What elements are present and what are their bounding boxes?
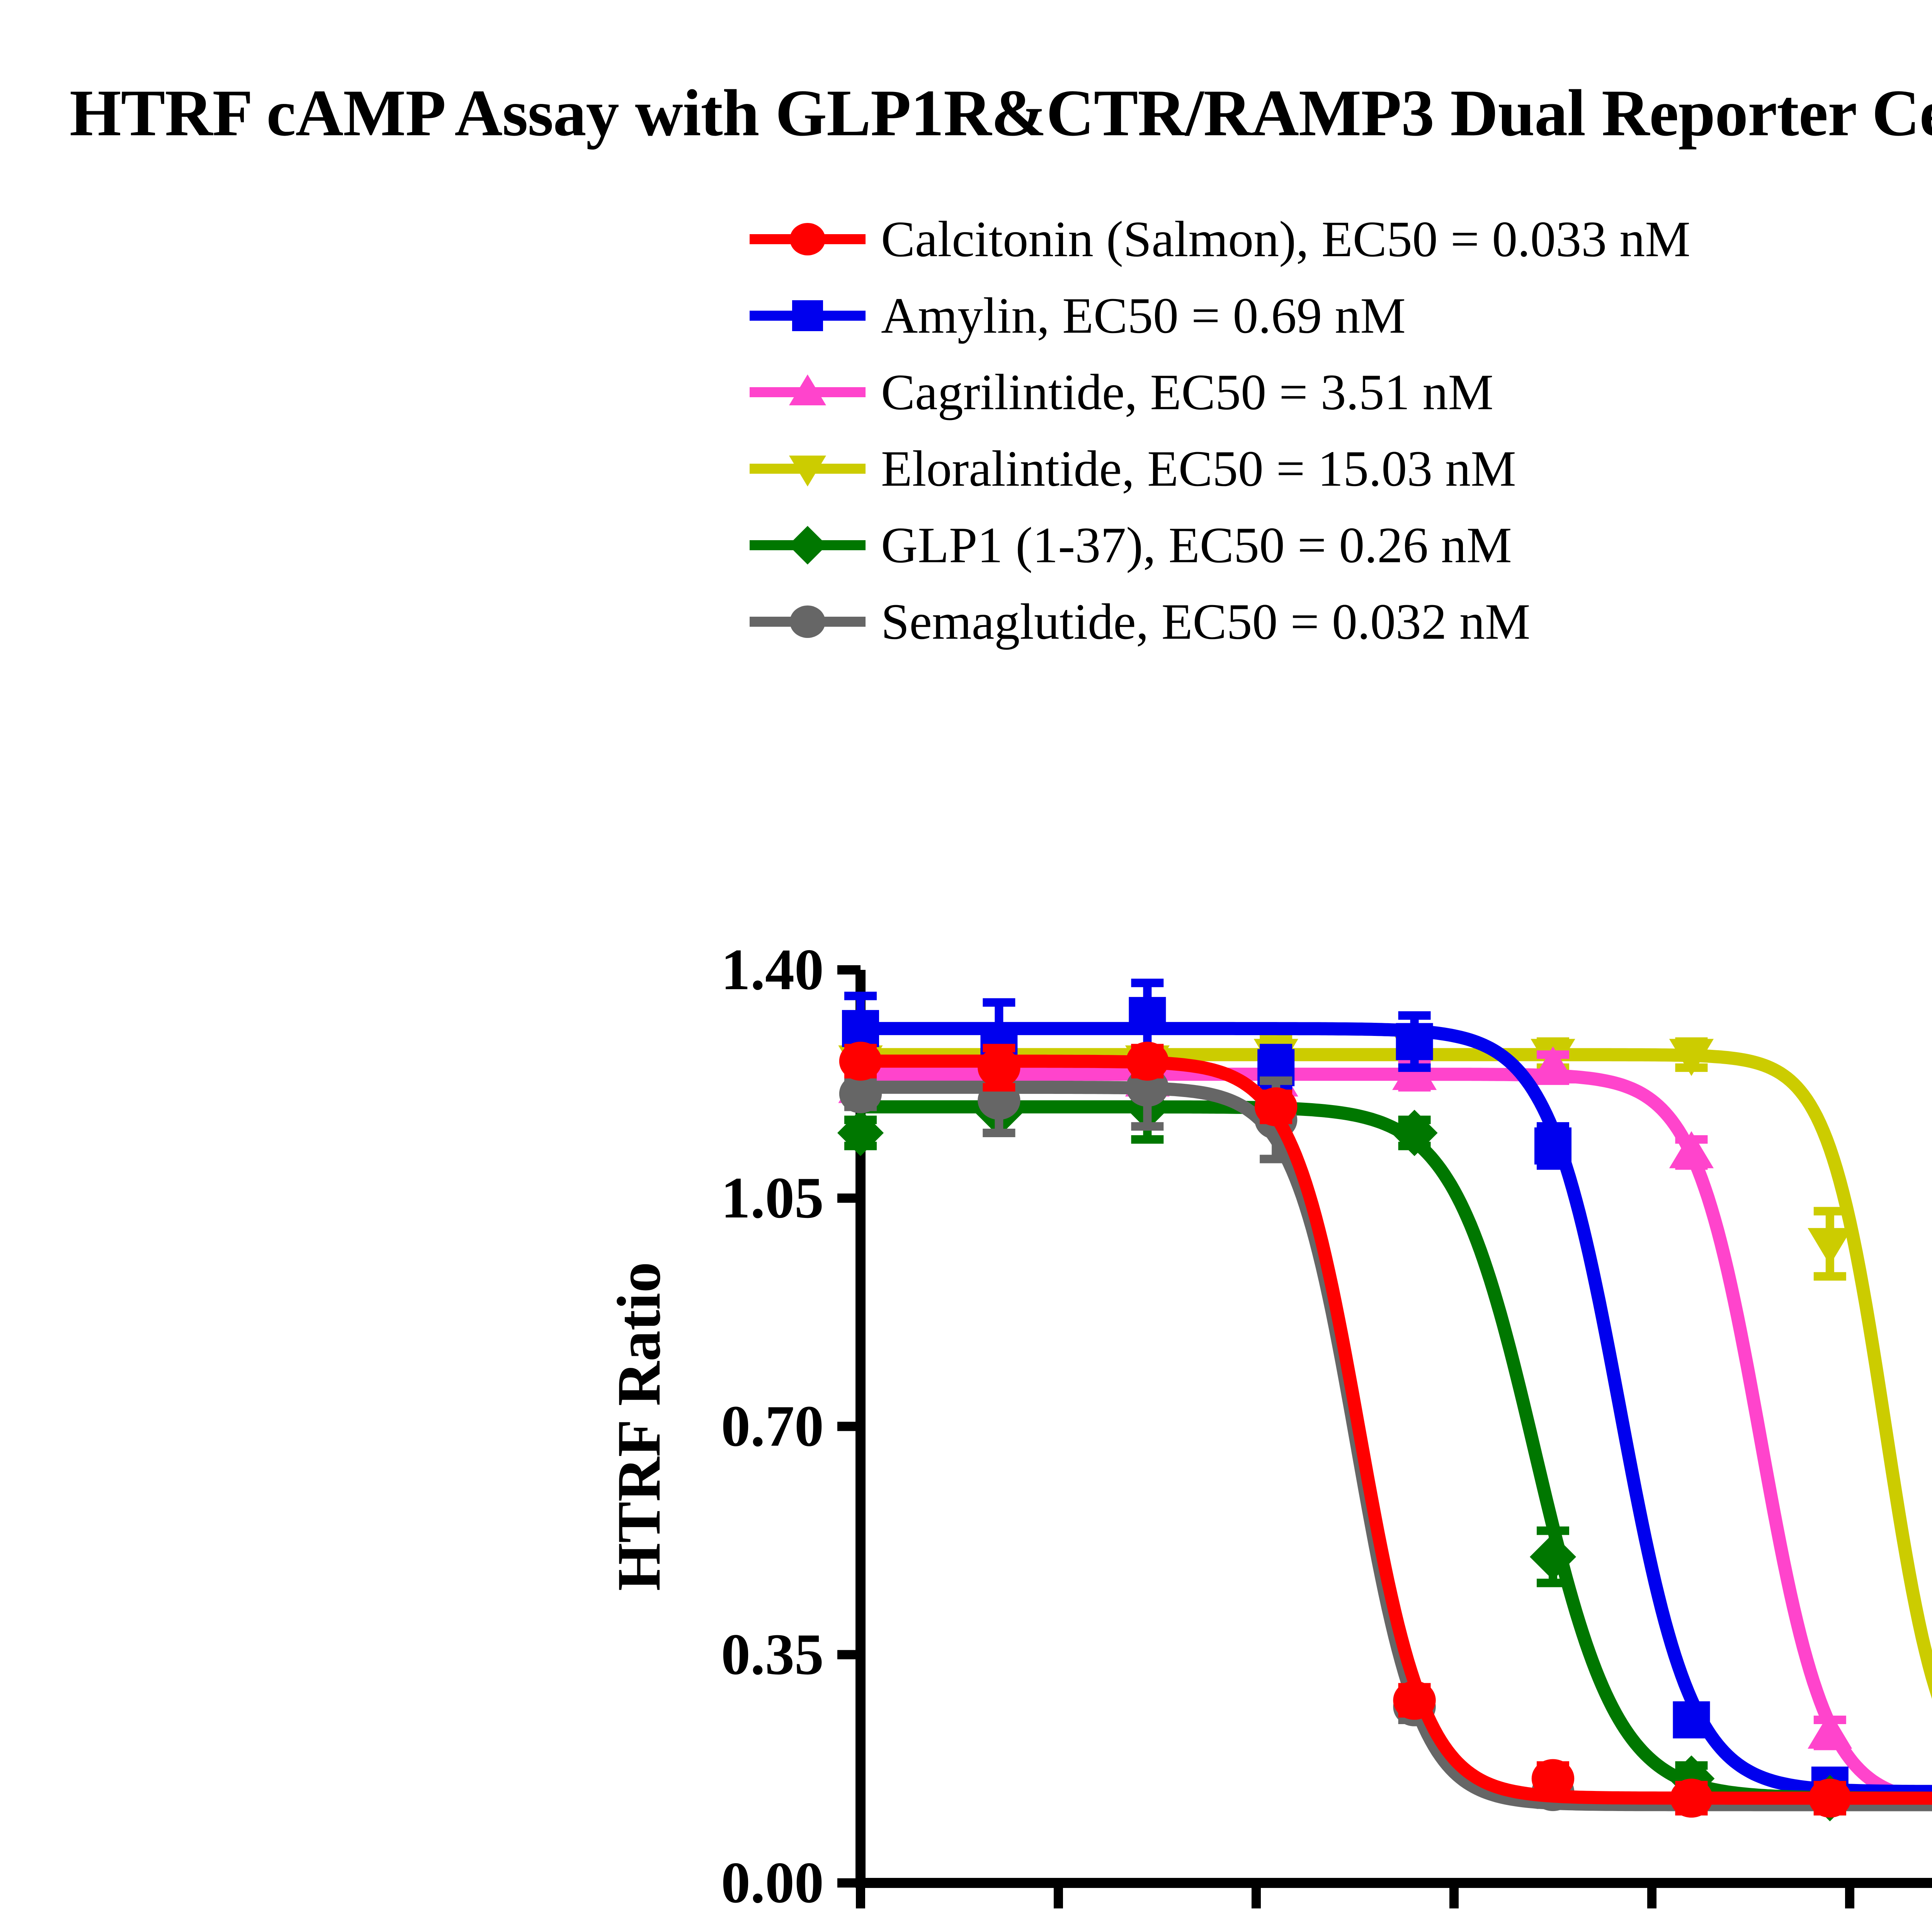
dose-response-plot: 0.000.350.701.051.40-4-3-2-10123Log[Agon…	[0, 889, 1932, 1932]
data-point	[1255, 1087, 1297, 1126]
legend-item[interactable]: Calcitonin (Salmon), EC50 = 0.033 nM	[750, 201, 1690, 277]
y-tick-label: 1.40	[721, 937, 824, 1002]
y-tick-label: 0.35	[721, 1622, 824, 1687]
legend-marker-circle-icon	[750, 602, 866, 641]
data-point	[1809, 1779, 1851, 1818]
legend-item[interactable]: Cagrilintide, EC50 = 3.51 nM	[750, 354, 1690, 430]
x-tick-label: 0	[1637, 1923, 1667, 1932]
legend-item-label: Amylin, EC50 = 0.69 nM	[881, 290, 1406, 341]
data-point	[1808, 1228, 1852, 1265]
legend-item[interactable]: Amylin, EC50 = 0.69 nM	[750, 277, 1690, 354]
figure-root: HTRF cAMP Assay with GLP1R&CTR/RAMP3 Dua…	[0, 0, 1932, 1932]
legend-marker-triangle-down-icon	[750, 449, 866, 488]
y-tick-label: 1.05	[721, 1165, 824, 1230]
legend-item[interactable]: GLP1 (1-37), EC50 = 0.26 nM	[750, 507, 1690, 583]
y-axis-ticks: 0.000.350.701.051.40	[721, 937, 861, 1915]
series-calcitonin-salmon	[839, 1042, 1932, 1824]
legend-marker-circle-icon	[750, 220, 866, 259]
y-tick-label: 0.00	[721, 1850, 824, 1915]
y-axis-title: HTRF Ratio	[604, 1262, 673, 1591]
data-point	[839, 1042, 882, 1081]
legend-item-label: Semaglutide, EC50 = 0.032 nM	[881, 596, 1530, 647]
page-title: HTRF cAMP Assay with GLP1R&CTR/RAMP3 Dua…	[70, 58, 1932, 155]
data-point	[1534, 1128, 1571, 1165]
data-point	[978, 1048, 1020, 1087]
legend-item[interactable]: Eloralintide, EC50 = 15.03 nM	[750, 430, 1690, 507]
legend-symbol	[792, 300, 823, 331]
series-eloralintide	[838, 1032, 1932, 1813]
fit-curve	[861, 1054, 1932, 1798]
legend-symbol	[788, 526, 827, 565]
x-tick-label: -1	[1430, 1923, 1479, 1932]
data-point	[1396, 1023, 1433, 1060]
legend-item-label: GLP1 (1-37), EC50 = 0.26 nM	[881, 520, 1512, 571]
plot-area: 0.000.350.701.051.40-4-3-2-10123Log[Agon…	[0, 889, 1932, 1932]
data-point	[1673, 1701, 1710, 1738]
data-point	[842, 1010, 879, 1047]
data-point	[1129, 997, 1166, 1034]
legend-marker-square-icon	[750, 296, 866, 335]
x-tick-label: -3	[1034, 1923, 1083, 1932]
legend-item[interactable]: Semaglutide, EC50 = 0.032 nM	[750, 583, 1690, 660]
legend-marker-triangle-up-icon	[750, 373, 866, 412]
x-tick-label: -4	[836, 1923, 885, 1932]
x-axis-ticks: -4-3-2-10123	[836, 1883, 1932, 1932]
legend-symbol	[790, 223, 825, 255]
legend-item-label: Eloralintide, EC50 = 15.03 nM	[881, 443, 1516, 494]
data-point	[1532, 1759, 1574, 1798]
series-semaglutide	[839, 1048, 1932, 1818]
data-point	[1126, 1042, 1168, 1081]
data-point	[1670, 1779, 1713, 1818]
x-tick-label: -2	[1232, 1923, 1281, 1932]
y-tick-label: 0.70	[721, 1394, 824, 1459]
legend-symbol	[790, 605, 825, 638]
series-cagrilintide	[838, 1046, 1932, 1820]
fit-curve	[861, 1061, 1932, 1798]
legend-marker-diamond-icon	[750, 526, 866, 565]
fit-curve	[861, 1029, 1932, 1792]
x-tick-label: 1	[1835, 1923, 1864, 1932]
legend-item-label: Cagrilintide, EC50 = 3.51 nM	[881, 367, 1493, 418]
chart-legend: Calcitonin (Salmon), EC50 = 0.033 nMAmyl…	[750, 201, 1690, 660]
data-point	[1393, 1681, 1435, 1720]
legend-item-label: Calcitonin (Salmon), EC50 = 0.033 nM	[881, 214, 1690, 265]
